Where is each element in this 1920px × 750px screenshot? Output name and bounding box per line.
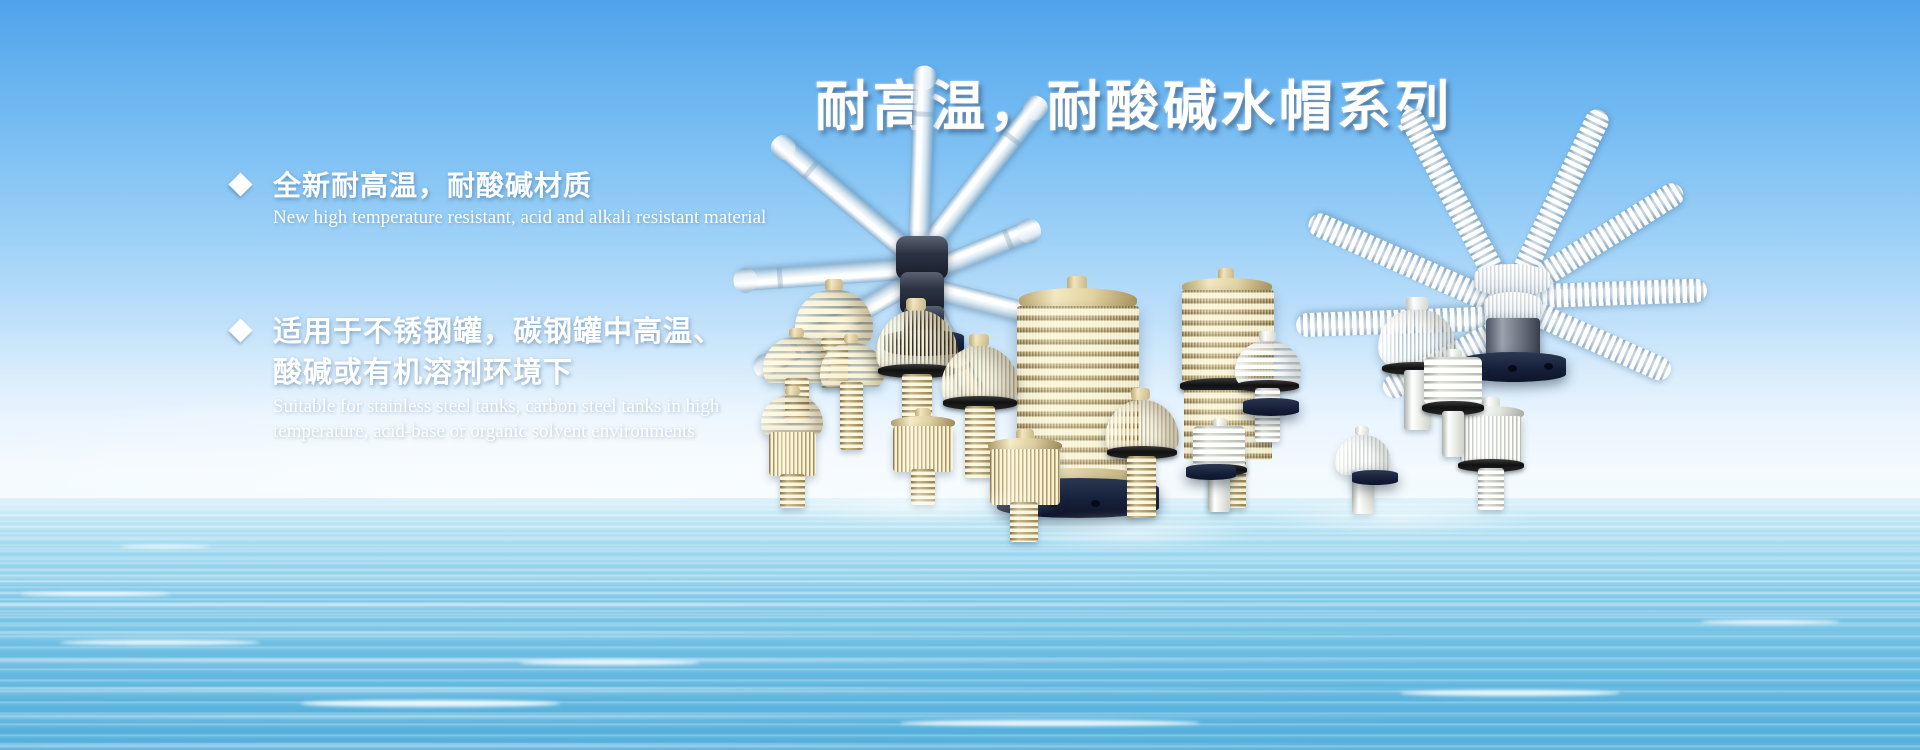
- nozzle-barrel: [1424, 357, 1482, 405]
- nozzle-barrel: [1193, 426, 1245, 468]
- nozzle-base-dark: [1352, 470, 1398, 485]
- product-water-reflection: [1000, 512, 1260, 552]
- nozzle-base-dark: [1243, 398, 1299, 416]
- nozzle-barrel: [769, 432, 816, 476]
- promo-banner: 耐高温，耐酸碱水帽系列 全新耐高温，耐酸碱材质 New high tempera…: [0, 0, 1920, 750]
- threaded-stem: [1127, 456, 1156, 518]
- product-water-reflection: [760, 486, 1060, 526]
- cone-head: [1235, 341, 1301, 385]
- nozzle-barrel: [1460, 416, 1522, 462]
- nozzle-base-dark: [1186, 464, 1236, 480]
- water-cap-filter-nozzle-product-array: [0, 0, 1920, 750]
- cone-head: [820, 343, 884, 387]
- product-water-reflection: [1260, 498, 1540, 536]
- cone-head: [761, 395, 823, 435]
- nozzle-top-cap: [1131, 388, 1150, 400]
- dome-head: [1335, 435, 1391, 475]
- nozzle-hex-cap: [1406, 297, 1428, 311]
- smooth-stem: [1442, 411, 1464, 457]
- threaded-stem: [840, 382, 863, 450]
- nozzle-barrel: [893, 426, 953, 472]
